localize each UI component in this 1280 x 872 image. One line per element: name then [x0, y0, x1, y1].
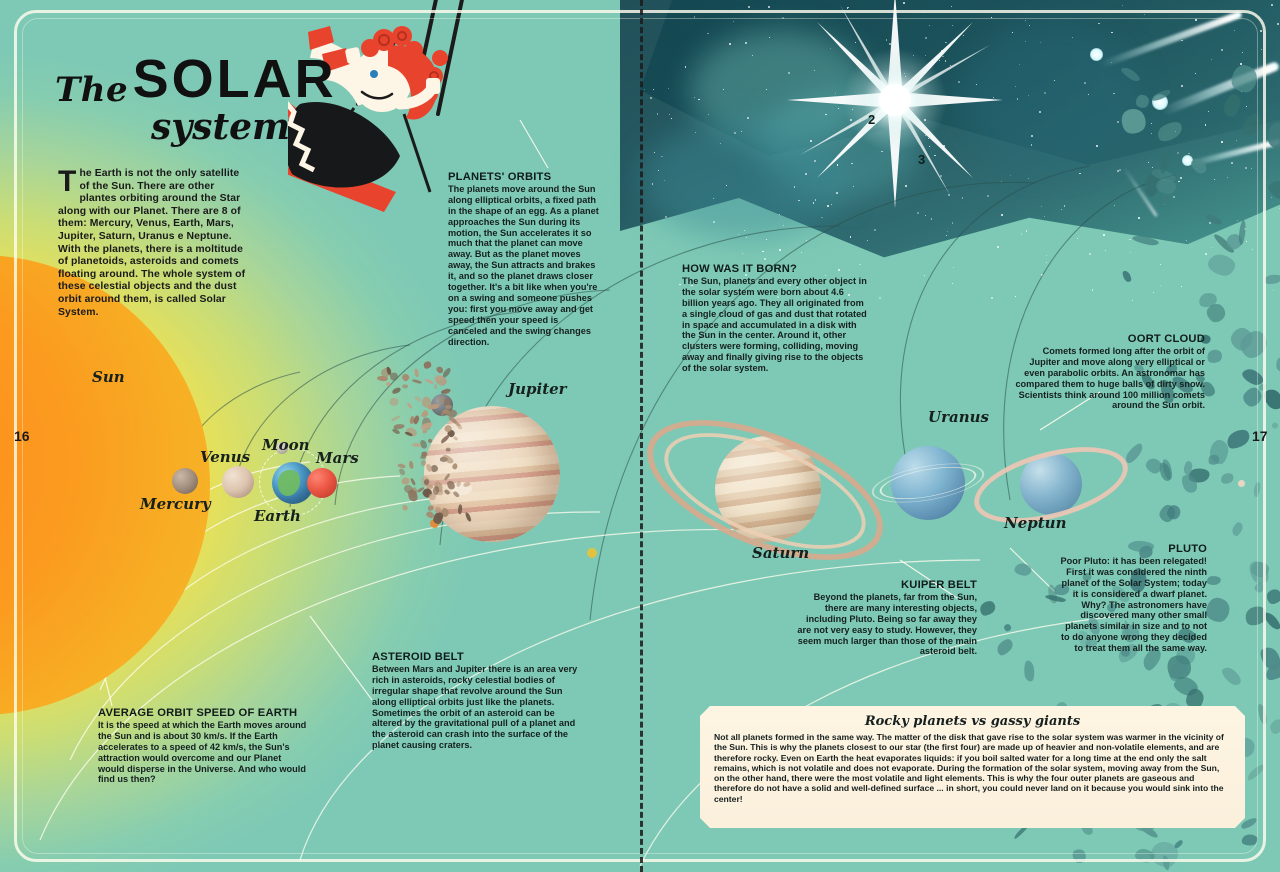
- fact-box-title: Rocky planets vs gassy giants: [714, 714, 1231, 729]
- marker-number-2: 2: [868, 112, 875, 127]
- fact-box-body: Not all planets formed in the same way. …: [714, 732, 1231, 804]
- callout-body: The planets move around the Sun along el…: [448, 184, 600, 348]
- callout-oort-cloud: OORT CLOUD Comets formed long after the …: [1015, 334, 1205, 411]
- title-word-the: The: [55, 70, 128, 110]
- page-number-left: 16: [14, 428, 30, 444]
- callout-body: Beyond the planets, far from the Sun, th…: [795, 592, 977, 657]
- label-earth: Earth: [254, 507, 301, 525]
- label-moon: Moon: [262, 436, 310, 454]
- callout-title: ASTEROID BELT: [372, 652, 584, 663]
- label-venus: Venus: [200, 448, 250, 466]
- callout-title: HOW WAS IT BORN?: [682, 264, 870, 275]
- page-number-right: 17: [1252, 428, 1268, 444]
- page-title: The SOLAR system: [55, 48, 355, 148]
- callout-title: AVERAGE ORBIT SPEED OF EARTH: [98, 708, 308, 719]
- title-word-solar: SOLAR: [133, 49, 337, 109]
- callout-title: KUIPER BELT: [795, 580, 977, 591]
- callout-pluto: PLUTO Poor Pluto: it has been relegated!…: [1055, 544, 1207, 654]
- callout-title: PLANETS' ORBITS: [448, 172, 600, 183]
- callout-how-was-it-born: HOW WAS IT BORN? The Sun, planets and ev…: [682, 264, 870, 374]
- callout-body: The Sun, planets and every other object …: [682, 276, 870, 374]
- page-gutter-fold: [640, 0, 643, 872]
- callout-body: Between Mars and Jupiter there is an are…: [372, 664, 584, 751]
- label-mercury: Mercury: [140, 495, 211, 513]
- callout-body: Comets formed long after the orbit of Ju…: [1015, 346, 1205, 411]
- label-jupiter: Jupiter: [508, 380, 567, 398]
- label-neptune: Neptun: [1004, 514, 1066, 532]
- callout-planets-orbits: PLANETS' ORBITS The planets move around …: [448, 172, 600, 348]
- fact-box-rocky-vs-gassy: Rocky planets vs gassy giants Not all pl…: [700, 706, 1245, 828]
- callout-asteroid-belt: ASTEROID BELT Between Mars and Jupiter t…: [372, 652, 584, 751]
- solar-system-infographic: The SOLAR system The Earth is not the on…: [0, 0, 1280, 872]
- label-sun: Sun: [92, 368, 125, 386]
- label-saturn: Saturn: [752, 544, 809, 562]
- title-word-system: system: [151, 106, 355, 148]
- intro-paragraph: The Earth is not the only satellite of t…: [58, 168, 248, 319]
- intro-dropcap: T: [58, 168, 79, 194]
- callout-body: Poor Pluto: it has been relegated! First…: [1055, 556, 1207, 654]
- label-mars: Mars: [316, 449, 359, 467]
- marker-number-3: 3: [918, 152, 925, 167]
- callout-average-orbit-speed: AVERAGE ORBIT SPEED OF EARTH It is the s…: [98, 708, 308, 785]
- label-uranus: Uranus: [928, 408, 989, 426]
- intro-text: he Earth is not the only satellite of th…: [58, 168, 245, 318]
- callout-title: OORT CLOUD: [1015, 334, 1205, 345]
- callout-kuiper-belt: KUIPER BELT Beyond the planets, far from…: [795, 580, 977, 657]
- callout-body: It is the speed at which the Earth moves…: [98, 720, 308, 785]
- callout-title: PLUTO: [1055, 544, 1207, 555]
